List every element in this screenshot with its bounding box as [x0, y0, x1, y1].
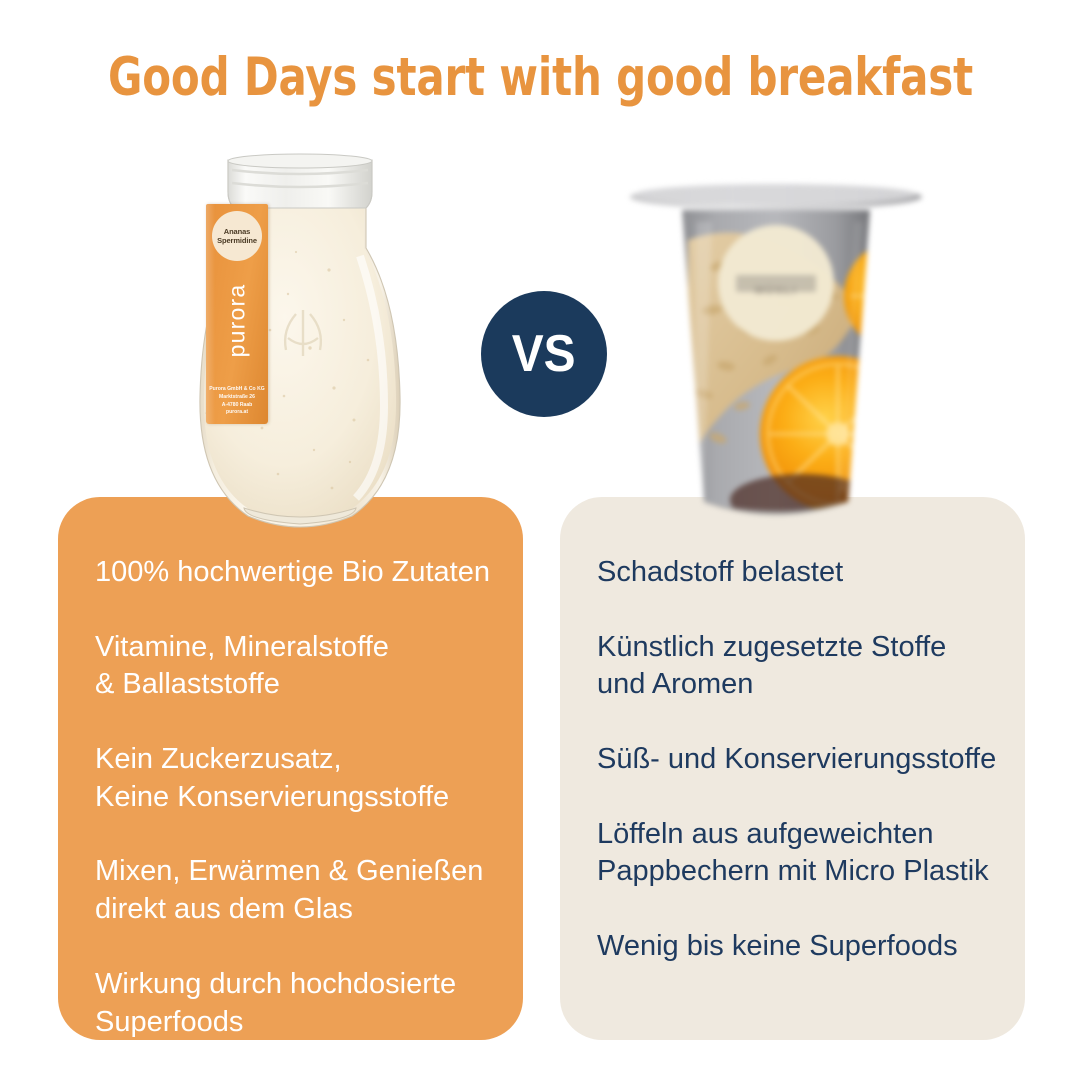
- pro-benefits-panel: 100% hochwertige Bio Zutaten Vitamine, M…: [58, 497, 523, 1040]
- product-image-purora-jar: Ananas Spermidine purora Purora GmbH & C…: [184, 152, 416, 534]
- con-drawback-item: Schadstoff belastet: [597, 554, 1003, 592]
- cup-illustration: [626, 170, 926, 534]
- jar-label-brand: purora: [224, 246, 251, 396]
- con-drawback-item: Künstlich zugesetzte Stoffe und Aromen: [597, 629, 1003, 704]
- pro-benefit-item: Kein Zuckerzusatz, Keine Konservierungss…: [95, 741, 501, 816]
- con-drawbacks-panel: Schadstoff belastet Künstlich zugesetzte…: [560, 497, 1025, 1040]
- vs-badge-label: VS: [512, 328, 576, 380]
- pro-benefit-item: Mixen, Erwärmen & Genießen direkt aus de…: [95, 853, 501, 928]
- cup-logo-text: MÜSLI: [755, 285, 797, 297]
- con-drawback-list: Schadstoff belastet Künstlich zugesetzte…: [597, 554, 1003, 966]
- con-drawback-item: Löffeln aus aufgeweichten Pappbechern mi…: [597, 816, 1003, 891]
- jar-product-label: Ananas Spermidine purora Purora GmbH & C…: [206, 204, 268, 424]
- con-drawback-item: Wenig bis keine Superfoods: [597, 928, 1003, 966]
- jar-label-flavour-line1: Ananas: [224, 227, 251, 236]
- pro-benefit-item: Vitamine, Mineralstoffe & Ballaststoffe: [95, 629, 501, 704]
- jar-label-address: Purora GmbH & Co KG Marktstraße 26 A-478…: [206, 386, 268, 417]
- pro-benefit-list: 100% hochwertige Bio Zutaten Vitamine, M…: [95, 554, 501, 1041]
- page-title: Good Days start with good breakfast: [65, 47, 1016, 108]
- comparison-graphic: Good Days start with good breakfast: [0, 0, 1081, 1081]
- jar-rim: [228, 154, 372, 168]
- pro-benefit-item: Wirkung durch hochdosierte Superfoods: [95, 966, 501, 1041]
- pro-benefit-item: 100% hochwertige Bio Zutaten: [95, 554, 501, 592]
- jar-label-flavour-line2: Spermidine: [217, 236, 257, 245]
- cup-lid-top: [636, 184, 916, 204]
- con-drawback-item: Süß- und Konservierungsstoffe: [597, 741, 1003, 779]
- product-image-plastic-cup: MÜSLI: [626, 170, 926, 534]
- vs-badge: VS: [481, 291, 607, 417]
